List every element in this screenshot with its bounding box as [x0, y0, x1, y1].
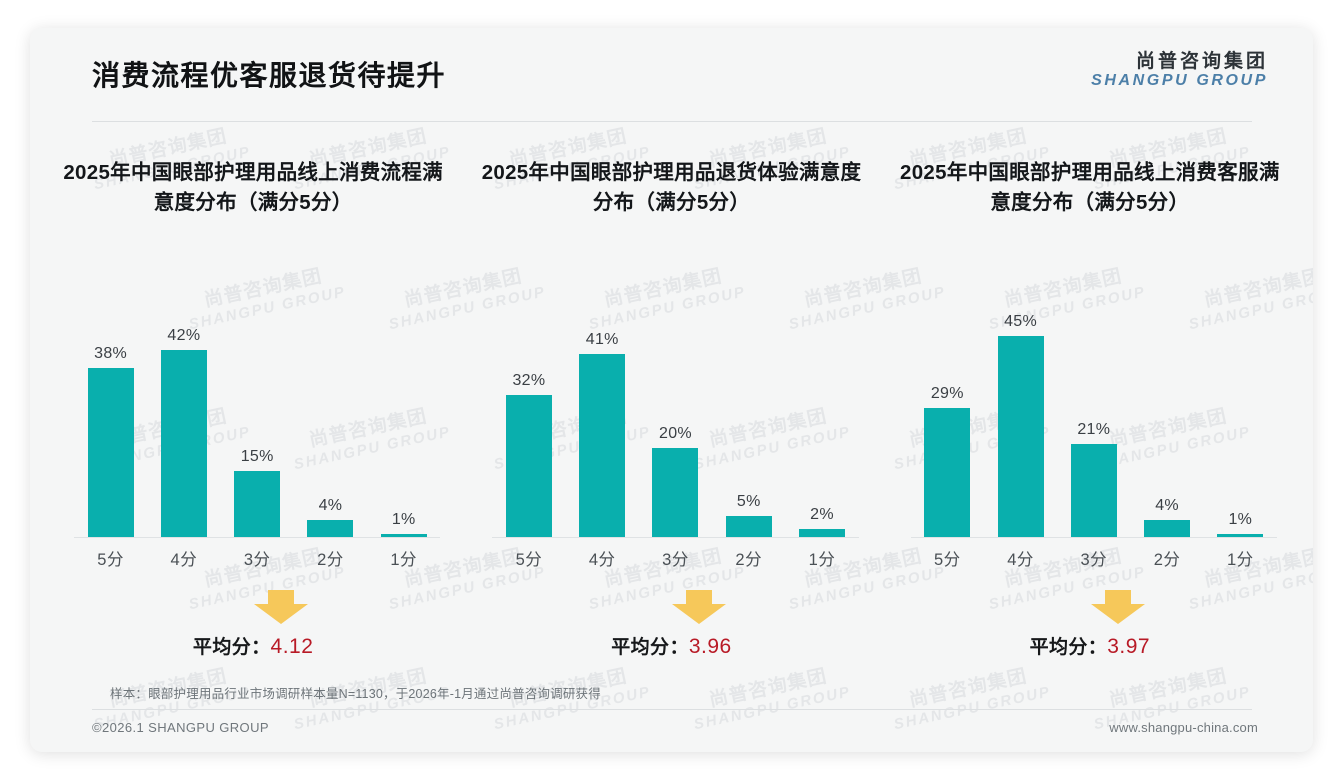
bar-slot[interactable]: 4%: [1130, 278, 1203, 538]
bar-slot[interactable]: 32%: [492, 278, 565, 538]
plot-area: 32%41%20%5%2%: [492, 278, 858, 538]
bar-slot[interactable]: 1%: [1204, 278, 1277, 538]
bar-slot[interactable]: 42%: [147, 278, 220, 538]
sample-footnote: 样本：眼部护理用品行业市场调研样本量N=1130，于2026年-1月通过尚普咨询…: [110, 683, 601, 702]
x-axis-line: [492, 537, 858, 538]
chart-panel-2: 2025年中国眼部护理用品退货体验满意度分布（满分5分）32%41%20%5%2…: [462, 158, 880, 668]
bar-value-label: 32%: [512, 373, 545, 389]
bar-group: 38%42%15%4%1%: [74, 278, 440, 538]
bar-slot[interactable]: 45%: [984, 278, 1057, 538]
bar[interactable]: [1071, 444, 1117, 538]
bar-value-label: 4%: [319, 498, 343, 514]
brand-name-en: SHANGPU GROUP: [1091, 72, 1268, 90]
average-score-label: 平均分：: [611, 637, 689, 658]
chart-panel-3: 2025年中国眼部护理用品线上消费客服满意度分布（满分5分）29%45%21%4…: [881, 158, 1299, 668]
plot-area: 38%42%15%4%1%: [74, 278, 440, 538]
average-score-text: 平均分：3.96: [611, 632, 731, 659]
bar-value-label: 1%: [1228, 512, 1252, 528]
x-axis-tick-label: 4分: [984, 546, 1057, 570]
bar-value-label: 21%: [1077, 422, 1110, 438]
bar-slot[interactable]: 1%: [367, 278, 440, 538]
brand-logo: 尚普咨询集团 SHANGPU GROUP: [1091, 51, 1268, 90]
bar[interactable]: [726, 516, 772, 538]
footer-copyright: ©2026.1 SHANGPU GROUP: [92, 720, 269, 735]
down-arrow-icon: [1091, 590, 1145, 624]
bar[interactable]: [579, 354, 625, 538]
chart-panel-1: 2025年中国眼部护理用品线上消费流程满意度分布（满分5分）38%42%15%4…: [44, 158, 462, 668]
bar[interactable]: [652, 448, 698, 538]
header-divider: [92, 121, 1252, 122]
bar-value-label: 42%: [167, 328, 200, 344]
bar-value-label: 38%: [94, 346, 127, 362]
bar-group: 29%45%21%4%1%: [911, 278, 1277, 538]
bar-slot[interactable]: 20%: [639, 278, 712, 538]
x-axis-tick-label: 2分: [294, 546, 367, 570]
x-axis-tick-label: 5分: [911, 546, 984, 570]
footer-divider: [92, 709, 1252, 710]
x-axis-tick-label: 4分: [147, 546, 220, 570]
watermark-text: 尚普咨询集团SHANGPU GROUP: [888, 662, 1053, 734]
bar-value-label: 2%: [810, 507, 834, 523]
average-score-block: 平均分：3.96: [462, 590, 880, 659]
bar-value-label: 41%: [586, 332, 619, 348]
bar-slot[interactable]: 21%: [1057, 278, 1130, 538]
x-axis-labels: 5分4分3分2分1分: [911, 546, 1277, 570]
bar-value-label: 20%: [659, 426, 692, 442]
slide-root: 尚普咨询集团SHANGPU GROUP尚普咨询集团SHANGPU GROUP尚普…: [0, 0, 1340, 780]
bar-value-label: 1%: [392, 512, 416, 528]
chart-title: 2025年中国眼部护理用品线上消费流程满意度分布（满分5分）: [56, 158, 450, 217]
bar-value-label: 4%: [1155, 498, 1179, 514]
bar[interactable]: [998, 336, 1044, 538]
bar[interactable]: [924, 408, 970, 538]
bar-slot[interactable]: 2%: [785, 278, 858, 538]
brand-name-cn: 尚普咨询集团: [1091, 51, 1268, 72]
average-score-text: 平均分：3.97: [1030, 632, 1150, 659]
footer-website[interactable]: www.shangpu-china.com: [1109, 720, 1258, 735]
x-axis-tick-label: 3分: [639, 546, 712, 570]
charts-row: 2025年中国眼部护理用品线上消费流程满意度分布（满分5分）38%42%15%4…: [44, 158, 1299, 668]
bar[interactable]: [1144, 520, 1190, 538]
bar-slot[interactable]: 41%: [566, 278, 639, 538]
x-axis-tick-label: 3分: [221, 546, 294, 570]
watermark-text: 尚普咨询集团SHANGPU GROUP: [688, 662, 853, 734]
page-title: 消费流程优客服退货待提升: [92, 54, 446, 94]
average-score-label: 平均分：: [193, 637, 271, 658]
bar-slot[interactable]: 38%: [74, 278, 147, 538]
x-axis-tick-label: 3分: [1057, 546, 1130, 570]
plot-area: 29%45%21%4%1%: [911, 278, 1277, 538]
average-score-block: 平均分：4.12: [44, 590, 462, 659]
x-axis-tick-label: 2分: [1130, 546, 1203, 570]
average-score-text: 平均分：4.12: [193, 632, 313, 659]
average-score-value: 3.97: [1107, 635, 1150, 658]
bar[interactable]: [234, 471, 280, 538]
bar-slot[interactable]: 5%: [712, 278, 785, 538]
bar-value-label: 29%: [931, 386, 964, 402]
x-axis-tick-label: 1分: [785, 546, 858, 570]
chart-title: 2025年中国眼部护理用品线上消费客服满意度分布（满分5分）: [893, 158, 1287, 217]
x-axis-tick-label: 2分: [712, 546, 785, 570]
x-axis-tick-label: 1分: [1204, 546, 1277, 570]
slide-header: 消费流程优客服退货待提升 尚普咨询集团 SHANGPU GROUP: [30, 28, 1313, 123]
average-score-block: 平均分：3.97: [881, 590, 1299, 659]
x-axis-line: [911, 537, 1277, 538]
down-arrow-icon: [254, 590, 308, 624]
x-axis-labels: 5分4分3分2分1分: [74, 546, 440, 570]
average-score-value: 3.96: [689, 635, 732, 658]
x-axis-labels: 5分4分3分2分1分: [492, 546, 858, 570]
bar-slot[interactable]: 15%: [221, 278, 294, 538]
slide-card: 尚普咨询集团SHANGPU GROUP尚普咨询集团SHANGPU GROUP尚普…: [30, 28, 1313, 752]
x-axis-line: [74, 537, 440, 538]
x-axis-tick-label: 5分: [492, 546, 565, 570]
bar[interactable]: [161, 350, 207, 538]
x-axis-tick-label: 5分: [74, 546, 147, 570]
bar-group: 32%41%20%5%2%: [492, 278, 858, 538]
down-arrow-icon: [672, 590, 726, 624]
average-score-value: 4.12: [271, 635, 314, 658]
chart-title: 2025年中国眼部护理用品退货体验满意度分布（满分5分）: [474, 158, 868, 217]
x-axis-tick-label: 4分: [566, 546, 639, 570]
average-score-label: 平均分：: [1030, 637, 1108, 658]
bar-value-label: 45%: [1004, 314, 1037, 330]
x-axis-tick-label: 1分: [367, 546, 440, 570]
bar-slot[interactable]: 29%: [911, 278, 984, 538]
bar-value-label: 15%: [241, 449, 274, 465]
bar-slot[interactable]: 4%: [294, 278, 367, 538]
bar[interactable]: [506, 395, 552, 538]
bar[interactable]: [307, 520, 353, 538]
bar[interactable]: [88, 368, 134, 538]
bar-value-label: 5%: [737, 494, 761, 510]
